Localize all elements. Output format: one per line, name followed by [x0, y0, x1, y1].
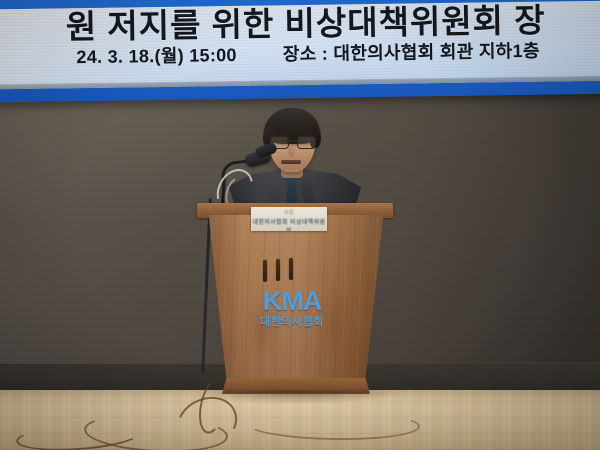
- photo-scene: 원 저지를 위한 비상대책위원회 장 24. 3. 18.(월) 15:00 장…: [0, 0, 600, 450]
- kma-logo: KMA: [238, 288, 346, 315]
- podium-vent-slot: [289, 258, 293, 280]
- nameplate-line-2: 대한의사협회 비상대책위원회: [251, 217, 327, 231]
- podium-vent-slot: [276, 259, 280, 281]
- podium-shadow: [196, 390, 400, 404]
- nameplate-line-1: 직함: [251, 209, 327, 216]
- podium: KMA 대한의사협회 직함 대한의사협회 비상대책위원회: [0, 0, 600, 450]
- kma-logo-subtitle: 대한의사협회: [238, 313, 346, 329]
- podium-nameplate: 직함 대한의사협회 비상대책위원회: [251, 207, 327, 231]
- podium-vent-slot: [263, 260, 267, 282]
